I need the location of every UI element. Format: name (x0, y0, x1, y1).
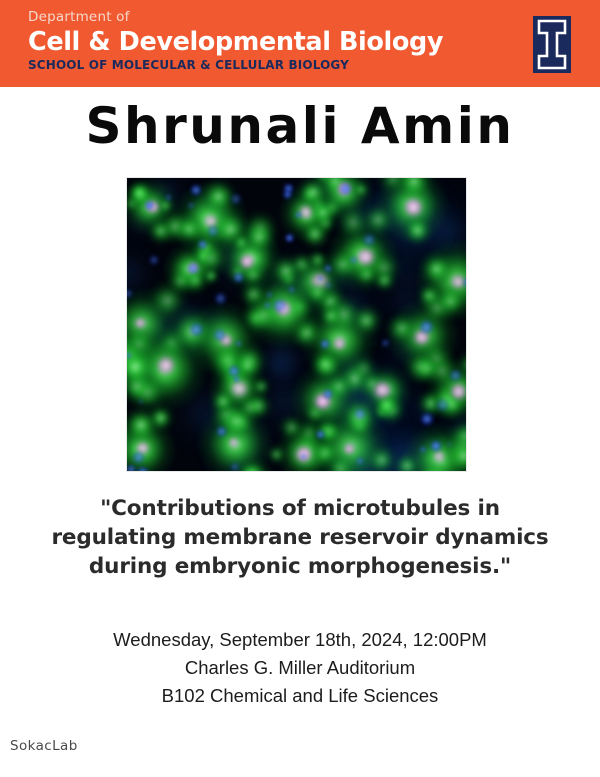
microtubule-aster (209, 397, 245, 433)
microtubule-aster (126, 466, 161, 472)
blue-punctum (197, 239, 209, 251)
microtubule-aster (126, 180, 155, 209)
blue-punctum (380, 338, 390, 348)
microtubule-aster (202, 267, 220, 285)
nucleus-core (402, 196, 424, 218)
blue-punctum (235, 340, 242, 347)
blue-punctum (126, 463, 138, 472)
blue-punctum (282, 182, 295, 195)
microtubule-aster (278, 185, 336, 243)
microtubule-aster (333, 202, 374, 243)
blue-punctum (282, 189, 293, 200)
microtubule-aster (126, 194, 141, 213)
microtubule-aster (208, 387, 237, 416)
microtubule-aster (299, 218, 331, 250)
blue-punctum (294, 211, 303, 220)
microtubule-aster (240, 218, 278, 256)
blue-punctum (189, 183, 203, 197)
microtubule-aster (166, 267, 195, 296)
microtubule-aster (441, 422, 467, 467)
microtubule-aster (231, 455, 274, 472)
background-haze (126, 242, 159, 305)
microtubule-aster (347, 352, 380, 385)
microtubule-aster (375, 177, 411, 196)
microtubule-aster (384, 311, 419, 346)
microtubule-aster (359, 364, 413, 418)
nucleus-core (293, 444, 314, 465)
microtubule-aster (192, 234, 219, 261)
microtubule-aster (239, 261, 267, 289)
blue-punctum (462, 276, 467, 289)
microtubule-aster (428, 381, 465, 418)
microtubule-aster (412, 458, 455, 472)
talk-title-line-2: regulating membrane reservoir dynamics (18, 523, 582, 552)
microtubule-aster (279, 270, 299, 290)
microtubule-aster (313, 211, 337, 235)
microtubule-aster (319, 195, 345, 221)
microtubule-aster (170, 181, 248, 259)
microtubule-aster (126, 325, 209, 413)
blue-punctum (315, 429, 326, 440)
nucleus-core (134, 317, 146, 329)
event-building: B102 Chemical and Life Sciences (0, 682, 600, 710)
microtubule-aster (324, 246, 361, 283)
blue-punctum (448, 368, 463, 383)
microtubule-aster (277, 413, 306, 442)
background-haze (126, 352, 170, 400)
background-haze (333, 430, 398, 472)
microtubule-aster (172, 212, 206, 246)
microtubule-aster (417, 288, 457, 328)
site-header: Department of Cell & Developmental Biolo… (0, 0, 600, 87)
microtubule-aster (155, 326, 189, 360)
blue-punctum (287, 285, 296, 294)
microtubule-aster (316, 177, 354, 200)
background-haze (248, 365, 321, 438)
background-haze (336, 177, 435, 258)
microtubule-aster (126, 440, 130, 466)
microtubule-aster (307, 196, 340, 229)
blue-punctum (227, 364, 241, 378)
background-haze (328, 343, 374, 389)
background-haze (361, 177, 456, 272)
talk-title: "Contributions of microtubules in regula… (18, 494, 582, 581)
lab-credit: SokacLab (10, 738, 78, 754)
microtubule-aster (289, 315, 325, 351)
blue-punctum (266, 291, 273, 298)
microtubule-aster (126, 340, 162, 393)
background-haze (311, 247, 373, 309)
microtubule-aster (337, 394, 381, 438)
microtubule-aster (241, 293, 286, 338)
header-text-block: Department of Cell & Developmental Biolo… (28, 9, 443, 73)
nucleus-core (312, 391, 333, 412)
background-haze (126, 287, 201, 370)
blue-punctum (317, 275, 324, 282)
microtubule-aster (188, 236, 231, 279)
microtubule-aster (416, 339, 456, 379)
microtubule-aster (266, 444, 287, 465)
background-haze (139, 177, 192, 220)
microtubule-aster (229, 341, 269, 381)
microtubule-aster (234, 392, 265, 423)
background-haze (433, 399, 467, 463)
microtubule-aster (434, 387, 467, 422)
blue-punctum (323, 263, 334, 274)
microtubule-aster (402, 422, 467, 472)
blue-punctum (355, 456, 365, 466)
background-haze (193, 302, 239, 348)
nucleus-core (187, 261, 200, 274)
microtubule-aster (359, 201, 397, 239)
blue-punctum (206, 224, 220, 238)
microtubule-aster (126, 324, 160, 367)
microtubule-aster (163, 242, 218, 297)
nucleus-core (450, 273, 467, 291)
background-haze (321, 410, 412, 472)
microtubule-aster (455, 349, 467, 380)
microtubule-aster (393, 177, 435, 203)
background-haze (384, 177, 468, 276)
microtubule-aster (199, 177, 238, 216)
blue-punctum (215, 425, 229, 439)
microtubule-aster (293, 417, 326, 450)
microtubule-aster (349, 303, 384, 338)
blue-punctum (322, 388, 334, 400)
microtubule-aster (307, 193, 330, 216)
background-haze (292, 350, 396, 454)
microtubule-aster (250, 376, 272, 398)
background-haze (126, 201, 163, 244)
microtubule-aster (321, 369, 356, 404)
blue-punctum (284, 232, 295, 243)
microtubule-aster (372, 402, 391, 421)
microtubule-aster (243, 269, 324, 350)
microtubule-aster (387, 299, 460, 372)
blue-punctum (187, 201, 195, 209)
microtubule-aster (441, 433, 467, 472)
microtubule-aster (231, 349, 264, 382)
illinois-block-i-logo (533, 16, 571, 73)
microtubule-aster (231, 232, 252, 253)
microtubule-aster (226, 260, 250, 284)
microtubule-aster (223, 404, 258, 439)
microtubule-aster (372, 390, 400, 418)
blue-punctum (429, 439, 443, 453)
block-i-icon (533, 16, 571, 73)
microtubule-aster (243, 391, 273, 421)
blue-punctum (229, 192, 243, 206)
nucleus-core (412, 328, 431, 347)
blue-punctum (434, 397, 450, 413)
blue-punctum (447, 442, 453, 448)
blue-punctum (325, 282, 332, 289)
background-haze (260, 345, 302, 387)
microtubule-aster (448, 417, 467, 455)
microtubule-aster (215, 349, 248, 382)
microtubule-aster (351, 180, 371, 200)
nucleus-core (332, 336, 347, 351)
blue-punctum (418, 318, 436, 336)
microtubule-aster (313, 284, 348, 319)
background-haze (198, 218, 279, 299)
blue-punctum (232, 271, 245, 284)
microtubule-aster (426, 358, 467, 422)
microtubule-aster (306, 249, 329, 272)
microtubule-aster (322, 293, 365, 336)
microtubule-aster (285, 251, 347, 313)
microtubule-aster (288, 251, 315, 278)
microtubule-aster (165, 305, 219, 359)
microtubule-aster (356, 368, 388, 400)
blue-punctum (126, 288, 134, 300)
background-haze (248, 326, 316, 394)
microtubule-aster (238, 461, 265, 472)
microtubule-aster (402, 348, 440, 386)
background-haze (323, 426, 413, 472)
nucleus-core (297, 203, 316, 222)
background-haze (165, 372, 249, 456)
microtubule-aster (289, 364, 361, 436)
microtubule-aster (323, 452, 357, 472)
blue-punctum (213, 291, 228, 306)
microtubule-aster (126, 366, 157, 406)
microtubule-aster (192, 244, 215, 267)
background-haze (399, 387, 445, 433)
microtubule-aster (218, 226, 282, 290)
microtubule-aster (242, 303, 271, 332)
event-datetime: Wednesday, September 18th, 2024, 12:00PM (0, 626, 600, 654)
background-haze (180, 182, 238, 240)
microtubule-aster (324, 464, 365, 472)
background-haze (317, 378, 410, 471)
blue-punctum (186, 261, 201, 276)
microtubule-aster (375, 394, 407, 426)
microtubule-aster (157, 208, 194, 245)
school-name: SCHOOL OF MOLECULAR & CELLULAR BIOLOGY (28, 58, 443, 73)
microtubule-aster (214, 399, 258, 443)
blue-punctum (348, 255, 359, 266)
nucleus-core (371, 379, 393, 401)
microscopy-figure (126, 177, 467, 472)
blue-punctum (144, 200, 155, 211)
microtubule-aster (310, 177, 338, 187)
microtubule-aster (309, 406, 392, 472)
background-haze (352, 400, 458, 472)
blue-punctum (131, 450, 145, 464)
microtubule-aster (416, 282, 444, 310)
microtubule-aster (146, 403, 175, 432)
nucleus-core (432, 449, 446, 463)
microtubule-aster (146, 216, 176, 246)
microtubule-aster (126, 327, 143, 371)
microtubule-aster (126, 414, 177, 472)
microtubule-aster (240, 209, 279, 248)
speaker-name: Shrunali Amin (0, 97, 600, 155)
microtubule-aster (185, 300, 263, 378)
background-haze (355, 218, 455, 318)
microtubule-aster (314, 418, 340, 444)
microtubule-aster (365, 249, 403, 287)
nucleus-core (274, 299, 293, 318)
microtubule-aster (372, 268, 397, 293)
nucleus-core (135, 440, 151, 456)
microtubule-aster (390, 177, 426, 186)
microtubule-aster (126, 351, 152, 386)
microtubule-aster (126, 337, 149, 375)
microtubule-aster (300, 185, 319, 204)
nucleus-core (448, 382, 467, 402)
microtubule-aster (353, 261, 380, 288)
blue-punctum (300, 453, 307, 460)
microtubule-aster (401, 214, 434, 247)
microtubule-aster (286, 294, 312, 320)
microtubule-aster (304, 279, 331, 306)
microtubule-aster (422, 351, 462, 391)
talk-title-line-3: during embryonic morphogenesis." (18, 552, 582, 581)
background-haze (354, 380, 402, 428)
microtubule-aster (416, 388, 446, 418)
microtubule-aster (208, 358, 267, 417)
background-haze (358, 424, 449, 472)
microtubule-aster (326, 220, 399, 293)
microtubule-aster (317, 302, 345, 330)
microtubule-aster (128, 181, 151, 204)
microtubule-aster (364, 443, 398, 472)
nucleus-core (238, 252, 256, 270)
microtubule-aster (208, 207, 253, 252)
nucleus-core (335, 180, 352, 197)
nucleus-core (219, 333, 234, 348)
blue-punctum (212, 327, 228, 343)
background-haze (369, 313, 442, 386)
blue-punctum (138, 399, 143, 404)
nucleus-core (228, 437, 239, 448)
background-haze (287, 177, 365, 234)
background-haze (355, 407, 448, 472)
microtubule-aster (145, 278, 190, 323)
microtubule-aster (156, 196, 175, 215)
microtubule-aster (295, 177, 332, 211)
background-haze (141, 287, 232, 378)
blue-punctum (165, 194, 172, 201)
background-haze (312, 424, 391, 472)
background-haze (195, 392, 291, 472)
microtubule-aster (126, 424, 132, 450)
blue-punctum (229, 461, 241, 472)
microtubule-aster (309, 437, 341, 469)
background-haze (311, 270, 394, 353)
event-details: Wednesday, September 18th, 2024, 12:00PM… (0, 626, 600, 710)
blue-punctum (338, 182, 352, 196)
background-haze (312, 346, 399, 433)
background-haze (382, 425, 458, 472)
background-haze (365, 177, 461, 265)
background-haze (165, 292, 212, 339)
microtubule-aster (126, 177, 179, 236)
background-haze (409, 194, 467, 271)
nucleus-core (202, 213, 220, 231)
blue-punctum (419, 446, 426, 453)
microtubule-aster (308, 347, 346, 385)
microtubule-aster (316, 418, 342, 444)
department-name: Cell & Developmental Biology (28, 27, 443, 57)
microtubule-aster (238, 279, 269, 310)
blue-punctum (188, 321, 205, 338)
blue-punctum (419, 411, 435, 427)
microtubule-aster (182, 268, 207, 293)
microtubule-aster (376, 395, 397, 416)
background-haze (315, 348, 409, 442)
blue-punctum (271, 297, 288, 314)
blue-punctum (361, 232, 377, 248)
blue-punctum (232, 375, 240, 383)
nucleus-core (355, 246, 377, 268)
microtubule-aster (301, 302, 378, 379)
event-venue: Charles G. Miller Auditorium (0, 654, 600, 682)
background-haze (216, 444, 260, 472)
nucleus-core (145, 199, 161, 215)
microtubule-aster (303, 401, 327, 425)
microtubule-aster (418, 250, 455, 287)
talk-title-line-1: "Contributions of microtubules in (18, 494, 582, 523)
background-haze (335, 188, 391, 244)
background-haze (255, 245, 337, 327)
blue-punctum (263, 301, 273, 311)
microtubule-aster (334, 358, 375, 399)
blue-punctum (353, 407, 367, 421)
microtubule-aster (197, 406, 274, 472)
microtubule-aster (126, 405, 161, 445)
microtubule-aster (268, 253, 304, 289)
blue-punctum (126, 352, 132, 359)
microtubule-aster (311, 350, 339, 378)
blue-punctum (135, 465, 150, 472)
microtubule-aster (411, 352, 444, 385)
microtubule-aster (217, 356, 251, 390)
microtubule-aster (466, 274, 467, 307)
microtubule-aster (313, 177, 374, 222)
microtubule-aster (275, 422, 337, 472)
blue-punctum (148, 254, 160, 266)
background-haze (343, 354, 433, 444)
department-eyebrow: Department of (28, 9, 443, 26)
background-haze (374, 271, 441, 338)
microtubule-aster (432, 283, 467, 320)
microtubule-aster (126, 287, 178, 361)
nucleus-core (309, 270, 331, 292)
microtubule-aster (345, 411, 374, 440)
microtubule-aster (374, 177, 449, 243)
nucleus-core (155, 354, 178, 377)
nucleus-core (228, 378, 251, 401)
microtubule-aster (392, 451, 422, 472)
blue-punctum (319, 338, 331, 350)
microtubule-aster (126, 371, 168, 413)
microtubule-aster (415, 239, 467, 322)
nucleus-core (343, 443, 355, 455)
microtubule-aster (206, 339, 250, 383)
